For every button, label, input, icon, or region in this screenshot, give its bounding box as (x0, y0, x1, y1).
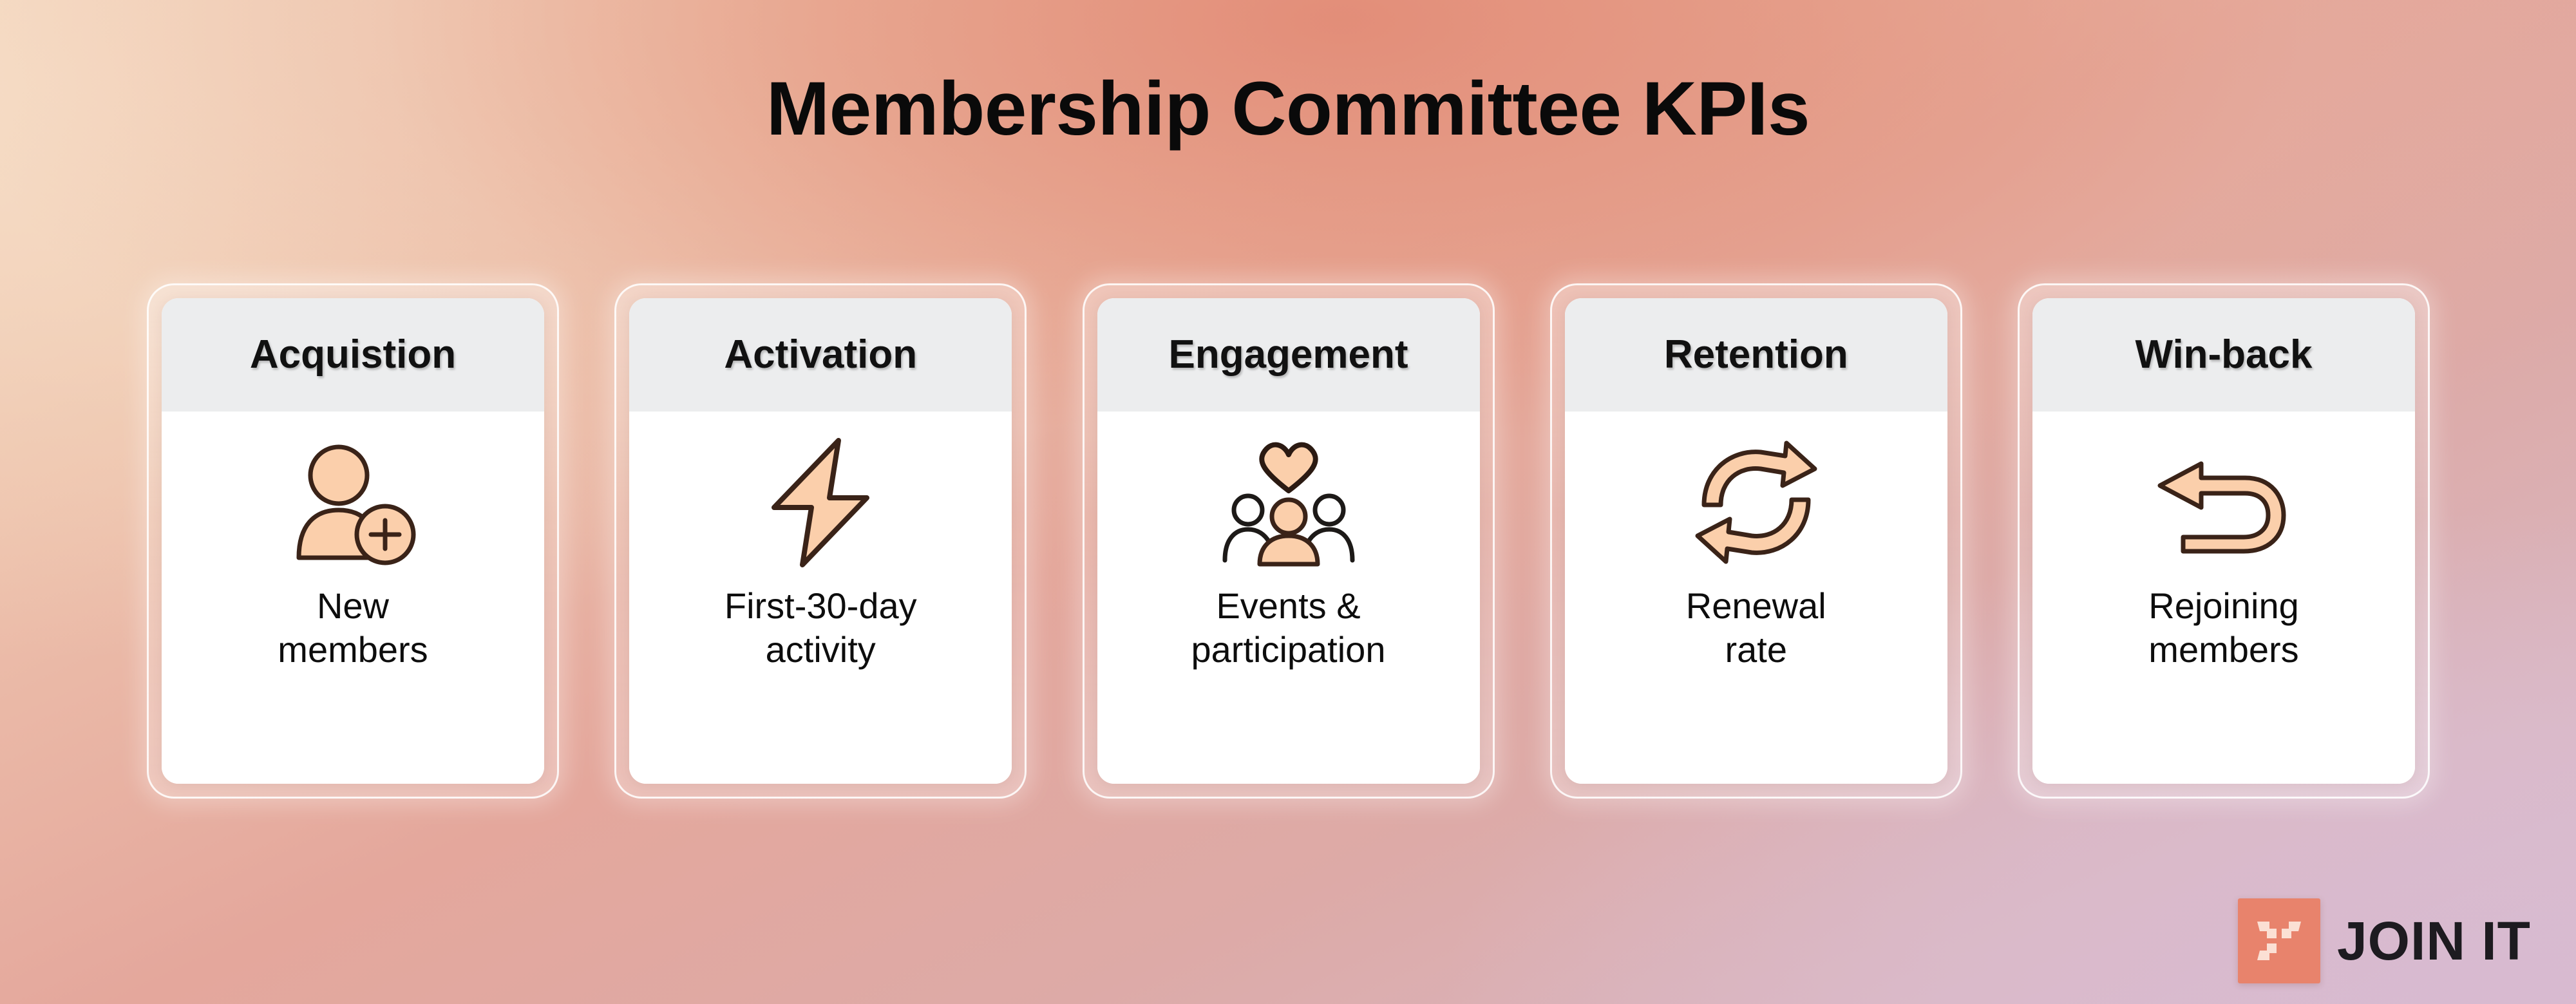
card-inner: Retention Renewal rate (1565, 298, 1947, 784)
card-inner: Engagement (1097, 298, 1480, 784)
card-body: Renewal rate (1565, 412, 1947, 784)
card-caption: New members (262, 584, 443, 672)
card-header: Engagement (1097, 298, 1480, 412)
card-inner: Win-back Rejoining members (2032, 298, 2415, 784)
card-header: Acquistion (162, 298, 544, 412)
card-title: Win-back (2135, 334, 2312, 375)
card-body: New members (162, 412, 544, 784)
brand-name: JOIN IT (2337, 914, 2531, 968)
card-body: Rejoining members (2032, 412, 2415, 784)
slide-background: Membership Committee KPIs Acquistion (0, 0, 2576, 1004)
kpi-card-win-back[interactable]: Win-back Rejoining members (2018, 283, 2430, 799)
refresh-cycle-icon (1682, 435, 1830, 570)
card-caption: Rejoining members (2133, 584, 2315, 672)
kpi-card-acquistion[interactable]: Acquistion New members (147, 283, 559, 799)
page-title: Membership Committee KPIs (0, 70, 2576, 149)
card-body: First-30-day activity (629, 412, 1012, 784)
card-header: Win-back (2032, 298, 2415, 412)
kpi-card-engagement[interactable]: Engagement (1083, 283, 1495, 799)
kpi-card-activation[interactable]: Activation First-30-day activity (614, 283, 1027, 799)
brand-logo[interactable]: JOIN IT (2238, 898, 2531, 983)
kpi-card-row: Acquistion New members (147, 283, 2430, 799)
converging-arrows-icon (2238, 898, 2320, 983)
card-body: Events & participation (1097, 412, 1480, 784)
card-title: Activation (724, 334, 917, 375)
card-caption: Events & participation (1176, 584, 1401, 672)
user-plus-icon (279, 435, 427, 570)
card-title: Retention (1664, 334, 1848, 375)
return-arrow-icon (2150, 435, 2298, 570)
card-inner: Acquistion New members (162, 298, 544, 784)
card-inner: Activation First-30-day activity (629, 298, 1012, 784)
kpi-card-retention[interactable]: Retention Renewal rate (1550, 283, 1962, 799)
heart-group-icon (1215, 435, 1363, 570)
lightning-bolt-icon (746, 435, 895, 570)
card-header: Retention (1565, 298, 1947, 412)
card-title: Acquistion (250, 334, 456, 375)
card-title: Engagement (1168, 334, 1408, 375)
card-caption: First-30-day activity (709, 584, 933, 672)
card-header: Activation (629, 298, 1012, 412)
card-caption: Renewal rate (1671, 584, 1842, 672)
